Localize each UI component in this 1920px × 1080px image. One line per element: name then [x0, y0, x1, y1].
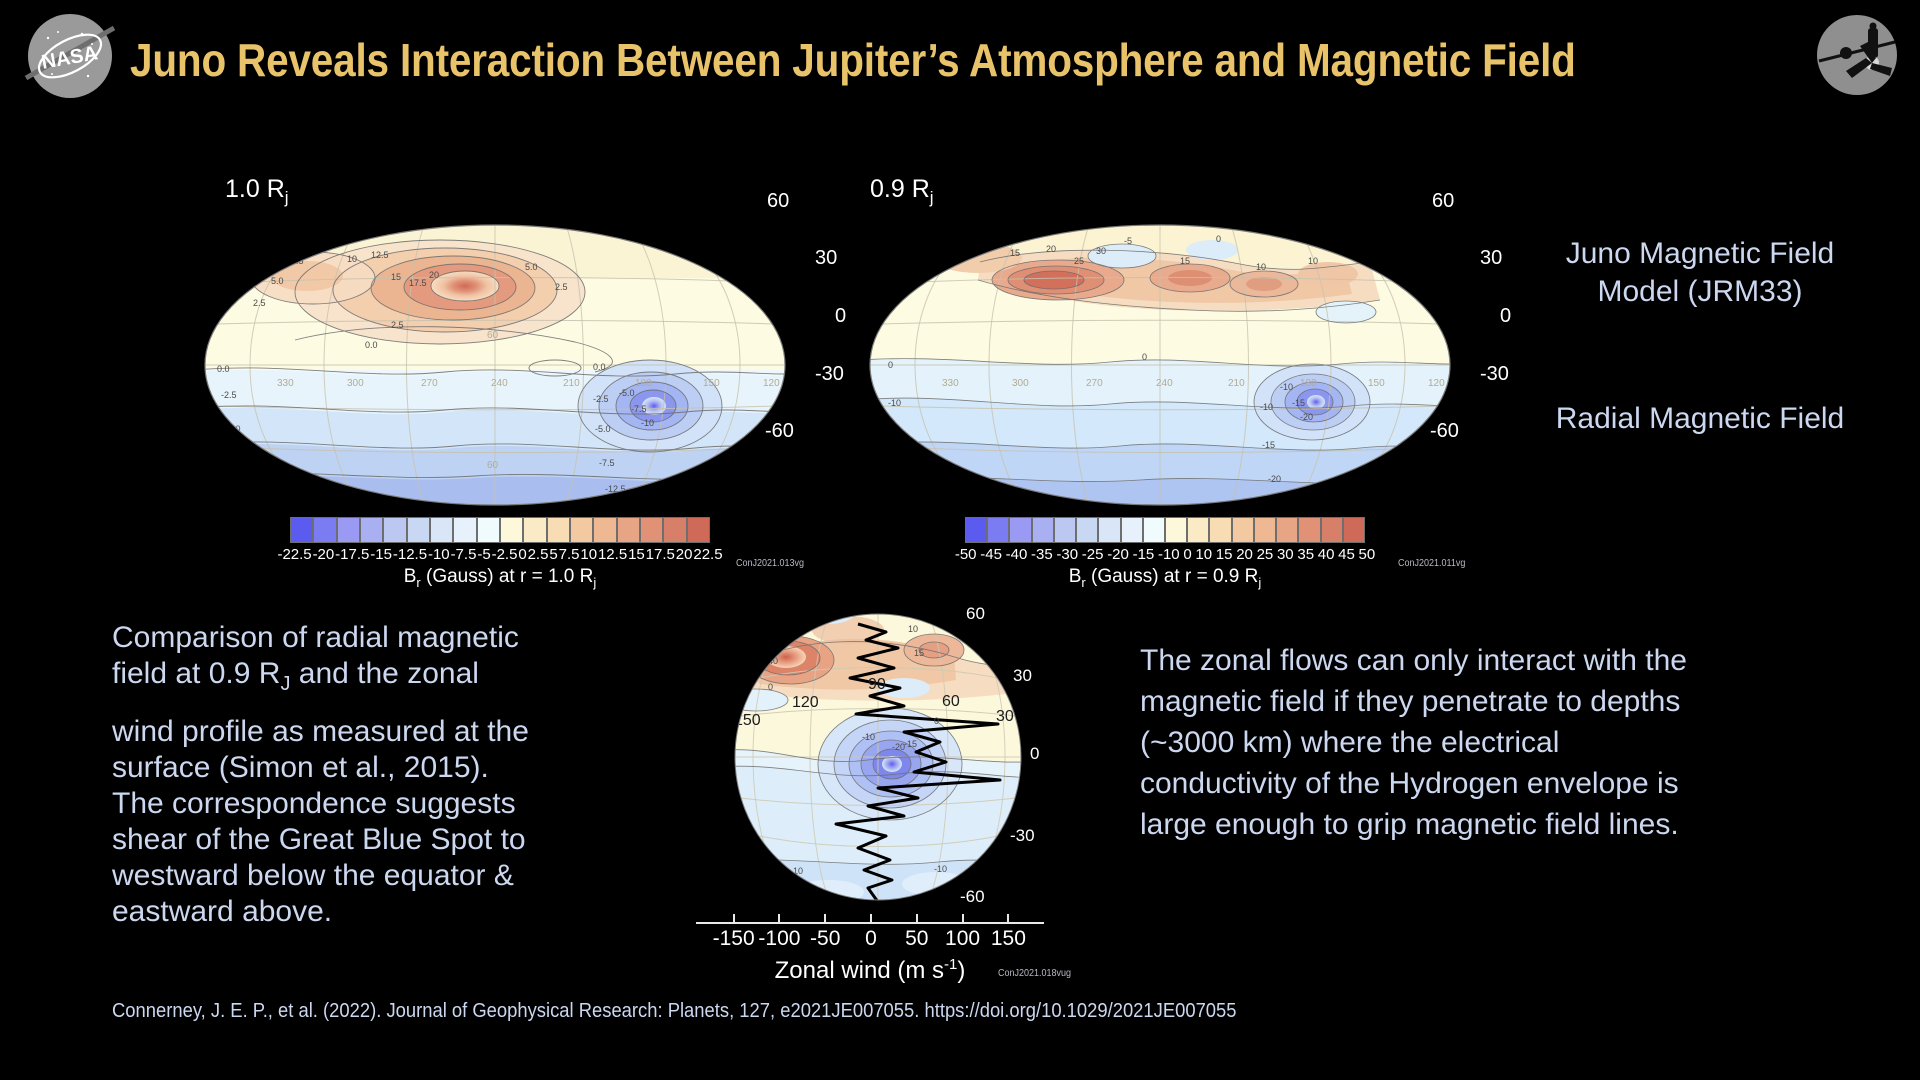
colorbar-0p9rj-swatch: [1254, 517, 1276, 543]
colorbar-0p9rj-swatch: [1321, 517, 1343, 543]
svg-text:120: 120: [792, 694, 819, 711]
colorbar-1p0rj-tick-label: -15: [370, 546, 393, 566]
svg-text:240: 240: [1156, 378, 1173, 389]
svg-text:-10: -10: [862, 732, 875, 742]
left-body-line-2a: field at 0.9 R: [112, 657, 280, 690]
svg-text:-10: -10: [1280, 382, 1293, 392]
zonal-axis-tick-label: 150: [991, 927, 1026, 951]
colorbar-0p9rj-ticks: -50-45-40-35-30-25-20-15-100101520253035…: [953, 546, 1377, 566]
svg-text:-15: -15: [1262, 440, 1275, 450]
left-body-line-6: shear of the Great Blue Spot to: [112, 822, 632, 858]
zonal-axis-tick: [1007, 914, 1009, 923]
svg-text:-10: -10: [850, 596, 863, 606]
colorbar-0p9rj-swatch: [1298, 517, 1320, 543]
svg-text:60: 60: [487, 330, 499, 341]
zonal-axis-tick: [824, 914, 826, 923]
svg-text:-30: -30: [1010, 826, 1035, 845]
svg-text:25: 25: [1074, 256, 1084, 266]
zonal-axis-tick-label: -150: [713, 927, 755, 951]
svg-text:-15: -15: [858, 902, 871, 912]
svg-text:60: 60: [966, 604, 985, 623]
zonal-axis-tick: [778, 914, 780, 923]
zonal-axis-tick: [870, 914, 872, 923]
svg-text:2.5: 2.5: [555, 282, 568, 292]
svg-text:210: 210: [1228, 378, 1245, 389]
svg-text:0: 0: [1216, 234, 1221, 244]
svg-text:-20: -20: [1300, 412, 1313, 422]
colorbar-0p9rj-swatch: [1232, 517, 1254, 543]
colorbar-0p9rj-tick-label: -45: [978, 546, 1003, 566]
map-1p0rj-lat-60: 60: [767, 190, 789, 213]
svg-text:15: 15: [914, 648, 924, 658]
map-figure-0p9rj: 0.9 Rj: [860, 195, 1480, 515]
page-title: Juno Reveals Interaction Between Jupiter…: [130, 30, 1591, 94]
svg-text:2.5: 2.5: [391, 320, 404, 330]
right-body-line-4: conductivity of the Hydrogen envelope is: [1140, 763, 1840, 804]
colorbar-0p9rj-tick-label: 35: [1296, 546, 1316, 566]
colorbar-1p0rj-swatch: [477, 517, 500, 543]
slide-root: NASA Juno Reveals Interaction Between Ju…: [0, 0, 1920, 1080]
colorbar-0p9rj-tick-label: -50: [953, 546, 978, 566]
colorbar-0p9rj-tick-label: 30: [1275, 546, 1295, 566]
svg-text:-5.0: -5.0: [619, 388, 635, 398]
svg-text:150: 150: [703, 378, 720, 389]
left-body-line-2: field at 0.9 RJ and the zonal: [112, 656, 632, 702]
colorbar-0p9rj-tick-label: 40: [1316, 546, 1336, 566]
colorbar-0p9rj-swatch: [1343, 517, 1365, 543]
colorbar-0p9rj-tick-label: -40: [1004, 546, 1029, 566]
svg-text:120: 120: [1428, 378, 1445, 389]
svg-text:5.0: 5.0: [525, 262, 538, 272]
svg-text:270: 270: [421, 378, 438, 389]
colorbar-1p0rj-swatch: [383, 517, 406, 543]
mollweide-map-1p0rj: 1012.5 1517.5 20 5.02.5 7.55.0 2.52.5 0.…: [195, 220, 815, 510]
nasa-meatball-icon: NASA: [18, 4, 122, 108]
colorbar-0p9rj: -50-45-40-35-30-25-20-15-100101520253035…: [965, 517, 1365, 593]
colorbar-0p9rj-swatch: [1121, 517, 1143, 543]
caption-model-line1: Juno Magnetic Field: [1480, 235, 1920, 273]
svg-text:5.0: 5.0: [271, 276, 284, 286]
colorbar-1p0rj: -22.5-20-17.5-15-12.5-10-7.5-5-2.502.557…: [290, 517, 710, 593]
zonal-axis-title-tail: ): [957, 957, 965, 984]
svg-text:0: 0: [724, 770, 729, 780]
map-1p0rj-lat-m30: -30: [815, 363, 844, 386]
map-figure-1p0rj: 1.0 Rj: [195, 195, 815, 515]
colorbar-0p9rj-tick-label: -35: [1029, 546, 1054, 566]
colorbar-0p9rj-tick-label: -25: [1080, 546, 1105, 566]
svg-text:-10: -10: [1260, 402, 1273, 412]
svg-text:-20: -20: [1268, 474, 1281, 484]
svg-text:210: 210: [563, 378, 580, 389]
map-title-0p9rj-main: 0.9 R: [870, 175, 930, 203]
svg-text:300: 300: [1012, 378, 1029, 389]
svg-text:-5: -5: [1124, 236, 1132, 246]
colorbar-0p9rj-swatch: [1032, 517, 1054, 543]
colorbar-1p0rj-swatch: [687, 517, 710, 543]
colorbar-0p9rj-swatch: [1209, 517, 1231, 543]
svg-text:120: 120: [763, 378, 780, 389]
caption-model-line2: Model (JRM33): [1480, 273, 1920, 311]
colorbar-1p0rj-tick-label: -22.5: [277, 546, 312, 566]
colorbar-1p0rj-tick-label: 22.5: [693, 546, 723, 566]
svg-text:180: 180: [635, 378, 652, 389]
colorbar-1p0rj-tick-label: 10: [580, 546, 598, 566]
credit-zonal-globe: ConJ2021.018vug: [998, 968, 1071, 979]
svg-text:0: 0: [888, 360, 893, 370]
svg-text:-7.5: -7.5: [631, 404, 647, 414]
colorbar-1p0rj-title: Br (Gauss) at r = 1.0 Rj: [290, 566, 710, 590]
zonal-axis-tick: [916, 914, 918, 923]
right-body-line-1: The zonal flows can only interact with t…: [1140, 640, 1840, 681]
colorbar-1p0rj-tick-label: 2.5: [527, 546, 549, 566]
left-body-line-7: westward below the equator &: [112, 858, 632, 894]
colorbar-1p0rj-swatch: [453, 517, 476, 543]
svg-text:30: 30: [1013, 666, 1032, 685]
svg-text:150: 150: [1368, 378, 1385, 389]
colorbar-1p0rj-swatch: [663, 517, 686, 543]
map-1p0rj-lat-30: 30: [815, 247, 837, 270]
right-body-line-3: (~3000 km) where the electrical: [1140, 722, 1840, 763]
colorbar-1p0rj-swatch: [313, 517, 336, 543]
colorbar-0p9rj-tick-label: -30: [1055, 546, 1080, 566]
map-0p9rj-lat-60: 60: [1432, 190, 1454, 213]
colorbar-0p9rj-swatch: [1187, 517, 1209, 543]
map-title-0p9rj-sub: j: [930, 188, 934, 207]
svg-text:10: 10: [1308, 256, 1318, 266]
caption-model: Juno Magnetic Field Model (JRM33): [1480, 235, 1920, 311]
map-title-0p9rj: 0.9 Rj: [870, 175, 934, 208]
svg-text:0: 0: [1030, 744, 1039, 763]
svg-text:270: 270: [1086, 378, 1103, 389]
right-body-line-5: large enough to grip magnetic field line…: [1140, 804, 1840, 845]
colorbar-1p0rj-tick-label: -17.5: [335, 546, 370, 566]
zonal-axis-title-sup: -1: [944, 956, 957, 973]
svg-text:-2.5: -2.5: [221, 390, 237, 400]
zonal-axis-tick-label: 50: [905, 927, 928, 951]
colorbar-0p9rj-tick-label: 25: [1255, 546, 1275, 566]
map-1p0rj-lat-m60: -60: [765, 420, 794, 443]
svg-text:180: 180: [1300, 378, 1317, 389]
colorbar-0p9rj-swatch: [965, 517, 987, 543]
svg-text:-15: -15: [890, 438, 903, 448]
svg-text:0: 0: [1142, 352, 1147, 362]
colorbar-1p0rj-swatch: [500, 517, 523, 543]
svg-text:20: 20: [1046, 244, 1056, 254]
svg-text:-5.0: -5.0: [595, 424, 611, 434]
colorbar-0p9rj-swatch: [1276, 517, 1298, 543]
svg-text:10: 10: [347, 254, 357, 264]
colorbar-1p0rj-swatch: [547, 517, 570, 543]
colorbar-0p9rj-swatch: [1143, 517, 1165, 543]
colorbar-0p9rj-tick-label: 0: [1182, 546, 1194, 566]
colorbar-0p9rj-swatches: [965, 517, 1365, 543]
zonal-axis-tick-label: 0: [865, 927, 877, 951]
colorbar-1p0rj-tick-label: -7.5: [450, 546, 477, 566]
colorbar-0p9rj-tick-label: -10: [1156, 546, 1181, 566]
svg-text:240: 240: [491, 378, 508, 389]
svg-text:2.5: 2.5: [253, 298, 266, 308]
colorbar-1p0rj-tick-label: 15: [628, 546, 646, 566]
left-body-line-1: Comparison of radial magnetic: [112, 620, 632, 656]
svg-text:10: 10: [1256, 262, 1266, 272]
svg-text:-10: -10: [235, 484, 248, 494]
right-body-text: The zonal flows can only interact with t…: [1140, 640, 1840, 845]
colorbar-0p9rj-tick-label: 20: [1234, 546, 1254, 566]
svg-text:15: 15: [1010, 248, 1020, 258]
colorbar-1p0rj-tick-label: -2.5: [491, 546, 518, 566]
slide-header: NASA Juno Reveals Interaction Between Ju…: [0, 0, 1920, 112]
colorbar-1p0rj-swatch: [337, 517, 360, 543]
svg-text:330: 330: [942, 378, 959, 389]
colorbar-1p0rj-swatch: [617, 517, 640, 543]
left-body-text: Comparison of radial magnetic field at 0…: [112, 620, 632, 930]
svg-text:10: 10: [908, 624, 918, 634]
zonal-axis-tick-label: -100: [758, 927, 800, 951]
left-body-line-8: eastward above.: [112, 894, 632, 930]
zonal-axis-tick: [733, 914, 735, 923]
zonal-axis-tick: [962, 914, 964, 923]
colorbar-1p0rj-tick-label: -10: [428, 546, 451, 566]
svg-text:0.0: 0.0: [365, 340, 378, 350]
svg-text:60: 60: [942, 693, 960, 710]
colorbar-0p9rj-swatch: [1054, 517, 1076, 543]
colorbar-0p9rj-tick-label: 45: [1336, 546, 1356, 566]
svg-text:0: 0: [768, 682, 773, 692]
colorbar-1p0rj-tick-label: -5: [477, 546, 491, 566]
colorbar-0p9rj-swatch: [1009, 517, 1031, 543]
colorbar-0p9rj-swatch: [1165, 517, 1187, 543]
left-body-line-2b: and the zonal: [290, 657, 478, 690]
svg-text:300: 300: [347, 378, 364, 389]
svg-text:12.5: 12.5: [371, 250, 389, 260]
citation-text: Connerney, J. E. P., et al. (2022). Jour…: [112, 1000, 1237, 1023]
colorbar-1p0rj-swatch: [360, 517, 383, 543]
colorbar-1p0rj-swatch: [523, 517, 546, 543]
colorbar-1p0rj-swatch: [407, 517, 430, 543]
svg-text:20: 20: [429, 270, 439, 280]
svg-text:-15: -15: [904, 739, 917, 749]
zonal-axis-tick-label: -50: [810, 927, 840, 951]
colorbar-0p9rj-swatch: [987, 517, 1009, 543]
orthographic-globe-zonal-wind: 4015 100 -10 -10-20 -15 00 -10-10 -15 15…: [708, 592, 1048, 922]
colorbar-1p0rj-tick-label: 12.5: [598, 546, 628, 566]
map-0p9rj-lat-m60: -60: [1430, 420, 1459, 443]
colorbar-1p0rj-tick-label: 7.5: [558, 546, 580, 566]
svg-text:15: 15: [391, 272, 401, 282]
colorbar-0p9rj-tick-label: -20: [1105, 546, 1130, 566]
colorbar-1p0rj-tick-label: 0: [518, 546, 527, 566]
map-title-1p0rj-main: 1.0 R: [225, 175, 285, 203]
credit-0p9rj: ConJ2021.011vg: [1398, 558, 1465, 569]
svg-text:30: 30: [996, 708, 1014, 725]
svg-text:-20: -20: [894, 474, 907, 484]
svg-text:30: 30: [1096, 246, 1106, 256]
zonal-axis-title: Zonal wind (m s-1): [696, 956, 1044, 985]
colorbar-0p9rj-swatch: [1076, 517, 1098, 543]
svg-text:17.5: 17.5: [409, 278, 427, 288]
svg-text:-15: -15: [1292, 398, 1305, 408]
map-title-1p0rj-sub: j: [285, 188, 289, 207]
zonal-axis-title-main: Zonal wind (m s: [775, 957, 944, 984]
svg-text:330: 330: [277, 378, 294, 389]
left-body-line-4: surface (Simon et al., 2015).: [112, 750, 632, 786]
left-body-line-3: wind profile as measured at the: [112, 714, 632, 750]
svg-text:0.0: 0.0: [217, 364, 230, 374]
svg-text:15: 15: [1180, 256, 1190, 266]
map-0p9rj-lat-m30: -30: [1480, 363, 1509, 386]
svg-text:-10: -10: [934, 864, 947, 874]
svg-text:0.0: 0.0: [593, 362, 606, 372]
colorbar-1p0rj-tick-label: -12.5: [392, 546, 427, 566]
juno-mission-icon: [1808, 6, 1906, 104]
svg-text:0: 0: [934, 716, 939, 726]
colorbar-0p9rj-swatch: [1098, 517, 1120, 543]
colorbar-1p0rj-swatch: [290, 517, 313, 543]
svg-text:90: 90: [868, 676, 886, 693]
right-body-line-2: magnetic field if they penetrate to dept…: [1140, 681, 1840, 722]
svg-text:60: 60: [487, 460, 499, 471]
zonal-axis-tick-label: 100: [945, 927, 980, 951]
colorbar-1p0rj-tick-label: 17.5: [645, 546, 675, 566]
svg-text:-2.5: -2.5: [593, 394, 609, 404]
colorbar-1p0rj-swatches: [290, 517, 710, 543]
colorbar-0p9rj-tick-label: 50: [1357, 546, 1377, 566]
left-body-line-5: The correspondence suggests: [112, 786, 632, 822]
colorbar-1p0rj-ticks: -22.5-20-17.5-15-12.5-10-7.5-5-2.502.557…: [277, 546, 723, 566]
globe-figure-zonal-wind: 4015 100 -10 -10-20 -15 00 -10-10 -15 15…: [700, 592, 1060, 992]
colorbar-0p9rj-tick-label: 10: [1194, 546, 1214, 566]
svg-text:-10: -10: [641, 418, 654, 428]
colorbar-1p0rj-tick-label: 20: [675, 546, 693, 566]
map-1p0rj-lat-0: 0: [835, 305, 846, 328]
svg-text:-60: -60: [960, 887, 985, 906]
colorbar-0p9rj-tick-label: -15: [1131, 546, 1156, 566]
svg-text:-10: -10: [888, 398, 901, 408]
colorbar-1p0rj-tick-label: 5: [549, 546, 558, 566]
colorbar-1p0rj-swatch: [640, 517, 663, 543]
svg-text:-7.5: -7.5: [229, 460, 245, 470]
colorbar-0p9rj-title: Br (Gauss) at r = 0.9 Rj: [965, 566, 1365, 590]
colorbar-1p0rj-swatch: [593, 517, 616, 543]
caption-field-type: Radial Magnetic Field: [1470, 400, 1920, 438]
map-title-1p0rj: 1.0 Rj: [225, 175, 289, 208]
left-body-line-2sub: J: [280, 673, 290, 695]
svg-text:-7.5: -7.5: [599, 458, 615, 468]
svg-text:10: 10: [978, 240, 988, 250]
credit-1p0rj: ConJ2021.013vg: [736, 558, 804, 569]
colorbar-0p9rj-tick-label: 15: [1214, 546, 1234, 566]
colorbar-1p0rj-tick-label: -20: [312, 546, 335, 566]
colorbar-1p0rj-swatch: [570, 517, 593, 543]
mollweide-map-0p9rj: 1520 2530 1510 1010 -50 00 -10-15 -20 -1…: [860, 220, 1480, 510]
colorbar-1p0rj-swatch: [430, 517, 453, 543]
